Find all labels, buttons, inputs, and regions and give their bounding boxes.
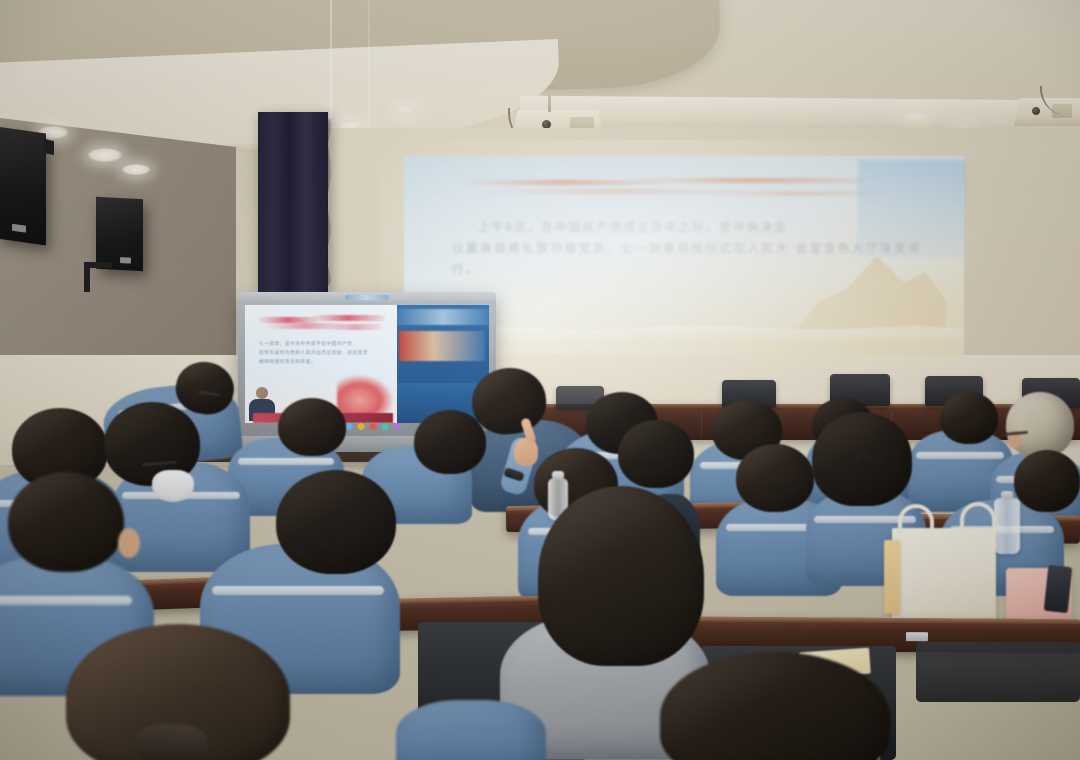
- slide-side-video-feed: [858, 160, 966, 258]
- mobile-phone: [1044, 565, 1073, 613]
- attendee-head-long-hair: [812, 412, 912, 506]
- uniform-stripe: [0, 596, 132, 605]
- tote-bag: [892, 528, 996, 624]
- blackout-curtain: [258, 112, 328, 292]
- toolbar-dot-icon[interactable]: [382, 423, 389, 430]
- attendee-head-long-hair: [538, 486, 704, 666]
- speaker-bracket: [84, 262, 90, 292]
- attendee-head: [278, 398, 346, 456]
- speaker-bracket: [44, 139, 54, 155]
- slide-ribbon-graphic: [257, 315, 385, 331]
- bottle-cap: [552, 471, 564, 479]
- toolbar-dot-icon[interactable]: [394, 423, 401, 430]
- uniform-stripe: [238, 458, 334, 465]
- uniform-stripe: [212, 586, 384, 595]
- downlight-icon: [122, 164, 150, 175]
- notebook-paper: [884, 540, 900, 614]
- figure-head: [256, 387, 268, 399]
- wall-speaker-left: [0, 126, 46, 245]
- attendee-head: [736, 444, 814, 512]
- tote-handle: [898, 504, 934, 534]
- slide-line: 上午9点，在中国共产党成立百年之际，党中央决定: [452, 218, 922, 239]
- ponytail: [134, 724, 208, 760]
- slide-banner-graphic: [464, 178, 884, 204]
- speaker-badge: [120, 257, 131, 264]
- slide-body-text: 上午9点，在中国共产党成立百年之际，党中央决定 以最高规格礼赞功勋党员，七一勋章…: [452, 218, 922, 281]
- attendee-head-senior: [1006, 392, 1074, 458]
- face-mask: [152, 470, 194, 502]
- downlight-icon: [392, 104, 418, 114]
- slide-line: 百年华诞时为党和人民作出杰出贡献、创造宝贵: [259, 348, 385, 357]
- slide-line: 七一勋章，是中共中央授予在中国共产党: [259, 339, 385, 348]
- attendee-head: [1014, 450, 1080, 512]
- conference-hall-photo: 上午9点，在中国共产党成立百年之际，党中央决定 以最高规格礼赞功勋党员，七一勋章…: [0, 0, 1080, 760]
- ceiling-seam: [330, 0, 332, 118]
- bottle-cap: [1001, 491, 1013, 499]
- tote-handle: [960, 502, 996, 534]
- downlight-icon: [900, 110, 930, 122]
- feed-upper-band: [397, 309, 489, 325]
- monitor-camera-bar: [345, 295, 389, 300]
- wall-speaker-right: [96, 197, 143, 271]
- attendee-head: [8, 472, 124, 572]
- toolbar-dot-icon[interactable]: [358, 423, 365, 430]
- toolbar-dot-icon[interactable]: [346, 423, 353, 430]
- monitor-slide-text: 七一勋章，是中共中央授予在中国共产党 百年华诞时为党和人民作出杰出贡献、创造宝贵…: [259, 339, 385, 366]
- downlight-icon: [88, 148, 122, 162]
- slide-line: 以最高规格礼赞功勋党员，七一勋章颁授仪式在人民大: [452, 243, 790, 255]
- attendee-head: [618, 420, 694, 488]
- desk-seam: [700, 412, 702, 438]
- monitor-screen[interactable]: 七一勋章，是中共中央授予在中国共产党 百年华诞时为党和人民作出杰出贡献、创造宝贵…: [245, 305, 489, 423]
- speaker-badge: [12, 224, 26, 233]
- attendee-head: [940, 392, 998, 444]
- water-bottle: [994, 498, 1020, 554]
- ceiling-lip: [520, 96, 1080, 127]
- attendee-head: [414, 410, 486, 474]
- projector-mount: [548, 94, 551, 112]
- ceiling-seam: [368, 0, 370, 126]
- feed-hall-image: [399, 331, 485, 361]
- attendee-torso: [396, 700, 546, 760]
- projector-lens-icon: [1032, 107, 1040, 115]
- toolbar-dot-icon[interactable]: [370, 423, 377, 430]
- attendee-head: [276, 470, 396, 574]
- desk-nameplate: [906, 632, 928, 641]
- chair-back: [916, 642, 1080, 702]
- uniform-stripe: [916, 452, 1004, 459]
- ear: [118, 528, 140, 558]
- slide-line: 精神财富的党员的荣誉。: [259, 357, 385, 366]
